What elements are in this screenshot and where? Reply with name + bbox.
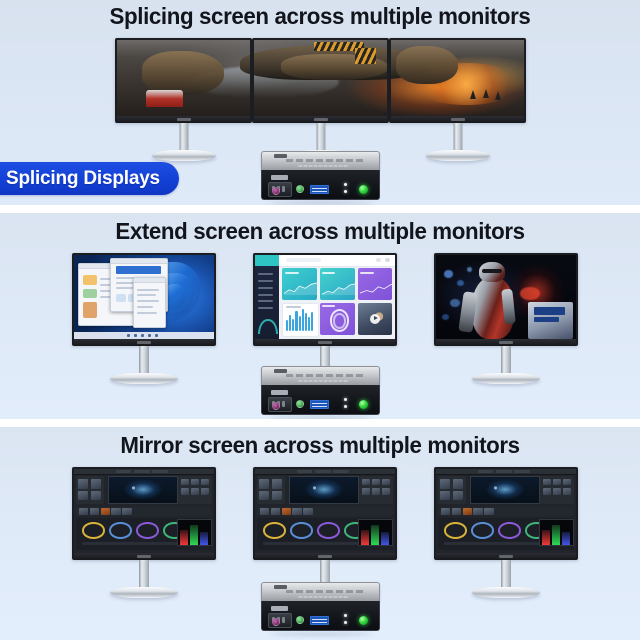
kvm-brand-mark [274, 369, 287, 373]
kvm-brand-mark [274, 154, 287, 158]
kvm-top-cover [261, 582, 380, 601]
monitor-stand-neck [139, 346, 149, 376]
mic-jack-icon[interactable] [272, 402, 280, 410]
editor-inspector[interactable] [359, 476, 393, 505]
usb-3-ports-icon[interactable] [310, 400, 329, 409]
audio-jack-icon[interactable] [296, 400, 304, 408]
monitor-chin [74, 339, 214, 346]
monitor-panel [253, 467, 397, 560]
monitor-brand-logo [177, 118, 191, 121]
monitor-stand-neck [316, 123, 325, 153]
monitor-splicing-2 [252, 38, 389, 123]
color-wheel-gamma [471, 522, 494, 539]
monitor-panel [434, 253, 578, 346]
dashboard-card-bar[interactable] [282, 303, 319, 337]
editor-menubar[interactable] [74, 469, 214, 475]
video-editor-app [74, 469, 214, 553]
color-wheel-gain [317, 522, 340, 539]
editor-media-pool[interactable] [257, 476, 285, 505]
editor-rgb-scope [358, 519, 393, 546]
color-wheel-gamma [290, 522, 313, 539]
monitor-panel [115, 38, 252, 123]
section-mirror: Mirror screen across multiple monitors [0, 427, 640, 640]
section-splicing: Splicing screen across multiple monitors [0, 0, 640, 205]
monitor-chin [254, 116, 387, 123]
monitor-mirror-3 [434, 467, 578, 560]
scene-console-screen-2 [534, 317, 559, 322]
monitor-chin [74, 553, 214, 560]
character-arm-2 [501, 288, 516, 324]
editor-media-pool[interactable] [438, 476, 466, 505]
monitor-panel [252, 38, 389, 123]
kvm-front-panel [261, 170, 380, 200]
color-wheel-lift [444, 522, 467, 539]
editor-menubar[interactable] [255, 469, 395, 475]
status-led-1-icon [344, 398, 347, 401]
editor-clip-strip[interactable] [438, 507, 574, 516]
movie-frame [436, 255, 576, 339]
color-wheel-gain [136, 522, 159, 539]
kvm-logo [271, 390, 288, 395]
editor-inspector[interactable] [540, 476, 574, 505]
badge-splicing-displays: Splicing Displays [0, 162, 179, 195]
section-heading-extend: Extend screen across multiple monitors [10, 218, 631, 244]
editor-clip-strip[interactable] [257, 507, 393, 516]
status-led-2-icon [344, 621, 347, 624]
monitor-stand-base [472, 373, 540, 384]
monitor-stand-base [110, 373, 178, 384]
monitor-chin [255, 553, 395, 560]
monitor-stand-base [472, 587, 540, 598]
dashboard-search-input[interactable] [286, 258, 321, 262]
kvm-top-cover [261, 151, 380, 170]
kvm-top-cover [261, 366, 380, 385]
monitor-panel [72, 467, 216, 560]
video-editor-app [255, 469, 395, 553]
kvm-shadow [269, 632, 373, 636]
monitor-stand-base [152, 150, 216, 161]
monitor-stand-neck [139, 560, 149, 590]
monitor-brand-logo [318, 341, 332, 344]
screen-analytics-dashboard [255, 255, 395, 339]
color-wheel-gain [498, 522, 521, 539]
monitor-brand-logo [499, 341, 513, 344]
usb-3-ports-icon[interactable] [310, 616, 329, 625]
section-heading-mirror: Mirror screen across multiple monitors [10, 432, 631, 458]
dashboard-card-3[interactable] [358, 268, 392, 300]
kvm-brand-mark [274, 585, 287, 589]
monitor-brand-logo [451, 118, 465, 121]
editor-media-pool[interactable] [76, 476, 104, 505]
screen-windows-desktop [74, 255, 214, 339]
monitor-splicing-3 [389, 38, 526, 123]
dashboard-card-2[interactable] [320, 268, 355, 300]
video-editor-app [436, 469, 576, 553]
kvm-switch-mirror[interactable] [261, 582, 380, 631]
usb-3-ports-icon[interactable] [310, 185, 329, 194]
monitor-stand-neck [453, 123, 462, 153]
monitor-stand-neck [179, 123, 188, 153]
kvm-model-print [286, 374, 363, 377]
kvm-vent-slots [297, 596, 348, 598]
dashboard-sidebar[interactable] [255, 255, 279, 339]
sidebar-header [255, 255, 279, 266]
monitor-stand-neck [501, 346, 511, 376]
screen-movie-playback [436, 255, 576, 339]
kvm-vent-slots [297, 380, 348, 382]
audio-jack-icon[interactable] [296, 185, 304, 193]
editor-preview-viewer[interactable] [108, 476, 178, 505]
monitor-brand-logo [318, 555, 332, 558]
monitor-stand-neck [501, 560, 511, 590]
card-2-line-chart [322, 281, 355, 296]
kvm-logo [271, 606, 288, 611]
monitor-panel [72, 253, 216, 346]
editor-rgb-scope [177, 519, 212, 546]
section-divider-2 [0, 419, 640, 427]
editor-menubar[interactable] [436, 469, 576, 475]
monitor-brand-logo [137, 341, 151, 344]
dashboard-app [255, 255, 395, 339]
monitor-panel [434, 467, 578, 560]
mic-jack-icon[interactable] [272, 187, 280, 195]
screen-video-editor-2 [255, 469, 395, 553]
status-led-2-icon [344, 405, 347, 408]
monitor-extend-2 [253, 253, 397, 346]
mic-jack-icon[interactable] [272, 618, 280, 626]
editor-clip-strip[interactable] [76, 507, 212, 516]
power-button[interactable] [359, 400, 368, 409]
screen-panoramic-right [391, 40, 524, 116]
kvm-front-panel [261, 385, 380, 415]
monitor-splicing-1 [115, 38, 252, 123]
desktop-window-side[interactable] [133, 277, 166, 328]
dashboard-card-1[interactable] [282, 268, 317, 300]
screen-video-editor-3 [436, 469, 576, 553]
product-feature-graphic: Splicing screen across multiple monitors [0, 0, 640, 640]
windows-wallpaper [74, 255, 214, 339]
screen-panoramic-center [254, 40, 387, 116]
monitor-extend-3 [434, 253, 578, 346]
dashboard-main [279, 255, 395, 339]
monitor-stand-base [110, 587, 178, 598]
screen-video-editor-1 [74, 469, 214, 553]
status-led-1-icon [344, 183, 347, 186]
monitor-mirror-1 [72, 467, 216, 560]
sidebar-gauge-chart [258, 319, 278, 334]
editor-preview-viewer[interactable] [289, 476, 359, 505]
monitor-extend-1 [72, 253, 216, 346]
card-3-line-chart [360, 281, 392, 296]
section-divider-1 [0, 205, 640, 213]
monitor-chin [255, 339, 395, 346]
section-heading-splicing: Splicing screen across multiple monitors [10, 3, 631, 29]
color-wheel-gamma [109, 522, 132, 539]
card-1-line-chart [284, 281, 317, 296]
kvm-vent-slots [297, 165, 348, 167]
dashboard-topbar [279, 255, 395, 267]
kvm-switch-splicing[interactable] [261, 151, 380, 200]
kvm-switch-extend[interactable] [261, 366, 380, 415]
monitor-chin [436, 553, 576, 560]
color-wheel-lift [263, 522, 286, 539]
play-icon[interactable] [370, 314, 380, 324]
monitor-stand-base [426, 150, 490, 161]
monitor-panel [253, 253, 397, 346]
badge-label: Splicing Displays [6, 168, 160, 190]
scene-console-screen [534, 307, 565, 315]
screen-panoramic-left [117, 40, 250, 116]
windows-taskbar[interactable] [74, 332, 214, 339]
section-extend: Extend screen across multiple monitors [0, 213, 640, 419]
editor-rgb-scope [539, 519, 574, 546]
monitor-brand-logo [137, 555, 151, 558]
monitor-brand-logo [314, 118, 328, 121]
audio-jack-icon[interactable] [296, 616, 304, 624]
monitor-chin [117, 116, 250, 123]
status-led-1-icon [344, 614, 347, 617]
power-button[interactable] [359, 185, 368, 194]
monitor-panel [389, 38, 526, 123]
character-visor [482, 269, 502, 272]
monitor-mirror-2 [253, 467, 397, 560]
color-wheel-lift [82, 522, 105, 539]
status-led-2-icon [344, 190, 347, 193]
kvm-model-print [286, 159, 363, 162]
monitor-brand-logo [499, 555, 513, 558]
kvm-logo [271, 175, 288, 180]
dashboard-card-donut[interactable] [320, 303, 355, 335]
editor-inspector[interactable] [178, 476, 212, 505]
power-button[interactable] [359, 616, 368, 625]
kvm-front-panel [261, 601, 380, 631]
kvm-model-print [286, 590, 363, 593]
dashboard-card-video[interactable] [358, 303, 392, 335]
monitor-chin [436, 339, 576, 346]
editor-preview-viewer[interactable] [470, 476, 540, 505]
monitor-chin [391, 116, 524, 123]
